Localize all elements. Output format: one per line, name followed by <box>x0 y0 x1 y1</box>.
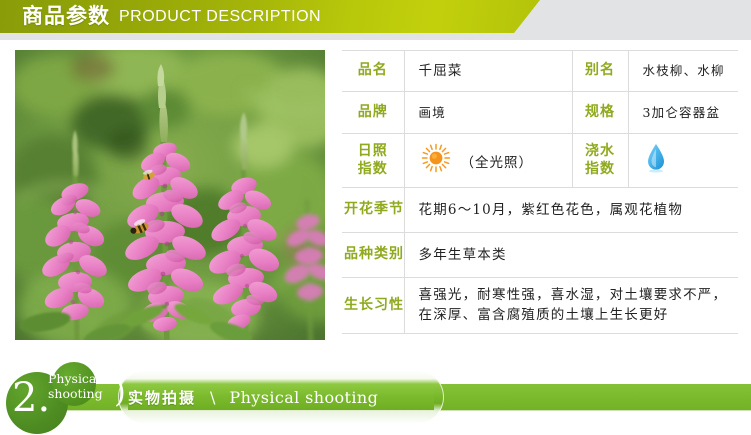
table-row: 品种类别 多年生草本类 <box>342 233 738 278</box>
footer-title-cn: 实物拍摄 <box>128 387 196 408</box>
spec-label-watering-line1: 浇水 <box>585 143 615 159</box>
footer-badge-label-line2: shooting <box>48 387 103 402</box>
header-underline-strip <box>0 33 751 40</box>
footer-badge-label: Physical shooting <box>48 372 103 402</box>
spec-value-variety-type: 多年生草本类 <box>405 238 739 273</box>
spec-label-watering: 浇水 指数 <box>573 137 628 184</box>
table-row: 开花季节 花期6～10月，紫红色花色，属观花植物 <box>342 188 738 233</box>
spec-value-brandname: 千屈菜 <box>405 54 572 89</box>
product-photo-illustration <box>15 50 325 340</box>
spec-label-brand: 品牌 <box>342 98 404 128</box>
spec-value-blooming-season: 花期6～10月，紫红色花色，属观花植物 <box>405 193 739 228</box>
spec-value-brand: 画境 <box>405 96 572 129</box>
footer-badge-number: 2. <box>12 378 50 418</box>
table-row: 品牌 画境 规格 3加仑容器盆 <box>342 92 738 134</box>
product-spec-table: 品名 千屈菜 别名 水枝柳、水柳 品牌 画境 规格 3加仑容器盆 日照 指数 <box>342 50 738 334</box>
spec-value-spec: 3加仑容器盆 <box>629 96 739 129</box>
spec-label-sunlight: 日照 指数 <box>342 137 404 184</box>
table-row: 品名 千屈菜 别名 水枝柳、水柳 <box>342 51 738 92</box>
spec-label-alias: 别名 <box>573 56 628 86</box>
spec-label-watering-line2: 指数 <box>585 161 615 177</box>
header-title-group: 商品参数 PRODUCT DESCRIPTION <box>22 0 321 33</box>
footer-slash-separator: \ <box>210 388 215 407</box>
spec-label-brandname: 品名 <box>342 56 404 86</box>
spec-value-sunlight: （全光照） <box>405 143 572 178</box>
sun-icon <box>421 143 451 178</box>
footer-pill-text-group: 实物拍摄 \ Physical shooting <box>128 382 378 412</box>
product-description-page: 商品参数 PRODUCT DESCRIPTION <box>0 0 751 435</box>
water-drop-icon <box>645 143 667 178</box>
table-row: 生长习性 喜强光，耐寒性强，喜水湿，对土壤要求不严，在深厚、富含腐殖质的土壤上生… <box>342 278 738 334</box>
footer-title-en: Physical shooting <box>229 388 378 407</box>
spec-label-sunlight-line2: 指数 <box>358 161 388 177</box>
page-title-cn: 商品参数 <box>22 6 110 27</box>
spec-value-sunlight-text: （全光照） <box>461 151 534 171</box>
spec-label-growth-habit: 生长习性 <box>342 291 404 321</box>
spec-label-spec: 规格 <box>573 98 628 128</box>
spec-value-alias: 水枝柳、水柳 <box>629 54 739 87</box>
header-white-gap <box>0 40 751 44</box>
page-title-en: PRODUCT DESCRIPTION <box>119 9 321 25</box>
spec-label-variety-type: 品种类别 <box>342 240 404 270</box>
footer-badge-label-line1: Physical <box>48 372 103 387</box>
footer-badge-paren: ) <box>114 378 126 408</box>
physical-shooting-section-banner: 实物拍摄 \ Physical shooting 2. Physical sho… <box>0 358 751 435</box>
product-photo <box>15 50 325 340</box>
spec-label-sunlight-line1: 日照 <box>358 143 388 159</box>
spec-label-blooming-season: 开花季节 <box>342 195 404 225</box>
table-row: 日照 指数 <box>342 134 738 188</box>
spec-value-growth-habit: 喜强光，耐寒性强，喜水湿，对土壤要求不严，在深厚、富含腐殖质的土壤上生长更好 <box>405 278 739 333</box>
spec-value-watering <box>629 143 739 178</box>
